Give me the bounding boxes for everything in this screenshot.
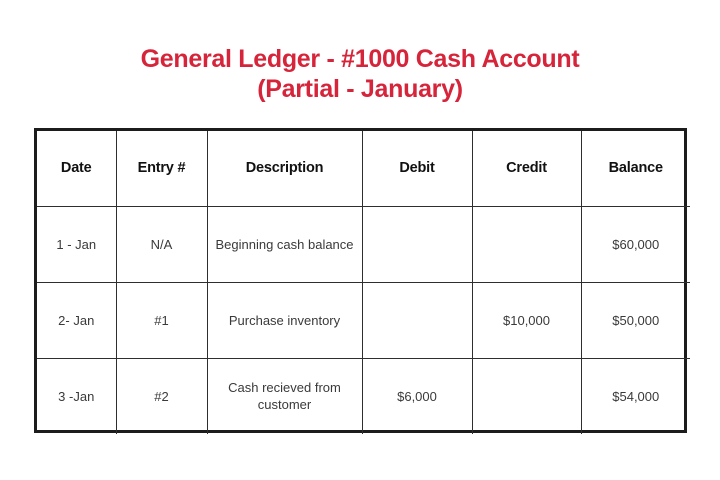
table-row: 2- Jan #1 Purchase inventory $10,000 $50… — [37, 282, 690, 358]
cell-credit: $10,000 — [472, 282, 581, 358]
table-row: 3 -Jan #2 Cash recieved from customer $6… — [37, 358, 690, 434]
cell-entry: #1 — [116, 282, 207, 358]
cell-balance: $54,000 — [581, 358, 690, 434]
cell-date: 1 - Jan — [37, 206, 116, 282]
cell-balance: $50,000 — [581, 282, 690, 358]
column-header-debit: Debit — [362, 131, 472, 206]
column-header-balance: Balance — [581, 131, 690, 206]
cell-debit — [362, 282, 472, 358]
cell-description: Purchase inventory — [207, 282, 362, 358]
ledger-page: General Ledger - #1000 Cash Account (Par… — [0, 0, 720, 480]
table-row: 1 - Jan N/A Beginning cash balance $60,0… — [37, 206, 690, 282]
cell-debit — [362, 206, 472, 282]
column-header-date: Date — [37, 131, 116, 206]
table-header-row: Date Entry # Description Debit Credit Ba… — [37, 131, 690, 206]
page-title-line-2: (Partial - January) — [0, 74, 720, 104]
cell-date: 3 -Jan — [37, 358, 116, 434]
page-title: General Ledger - #1000 Cash Account (Par… — [0, 44, 720, 104]
ledger-table: Date Entry # Description Debit Credit Ba… — [37, 131, 690, 434]
ledger-table-container: Date Entry # Description Debit Credit Ba… — [34, 128, 687, 433]
page-title-line-1: General Ledger - #1000 Cash Account — [0, 44, 720, 74]
column-header-entry: Entry # — [116, 131, 207, 206]
cell-description: Cash recieved from customer — [207, 358, 362, 434]
cell-credit — [472, 358, 581, 434]
cell-balance: $60,000 — [581, 206, 690, 282]
cell-debit: $6,000 — [362, 358, 472, 434]
cell-entry: #2 — [116, 358, 207, 434]
column-header-description: Description — [207, 131, 362, 206]
cell-entry: N/A — [116, 206, 207, 282]
column-header-credit: Credit — [472, 131, 581, 206]
cell-description: Beginning cash balance — [207, 206, 362, 282]
cell-credit — [472, 206, 581, 282]
cell-date: 2- Jan — [37, 282, 116, 358]
